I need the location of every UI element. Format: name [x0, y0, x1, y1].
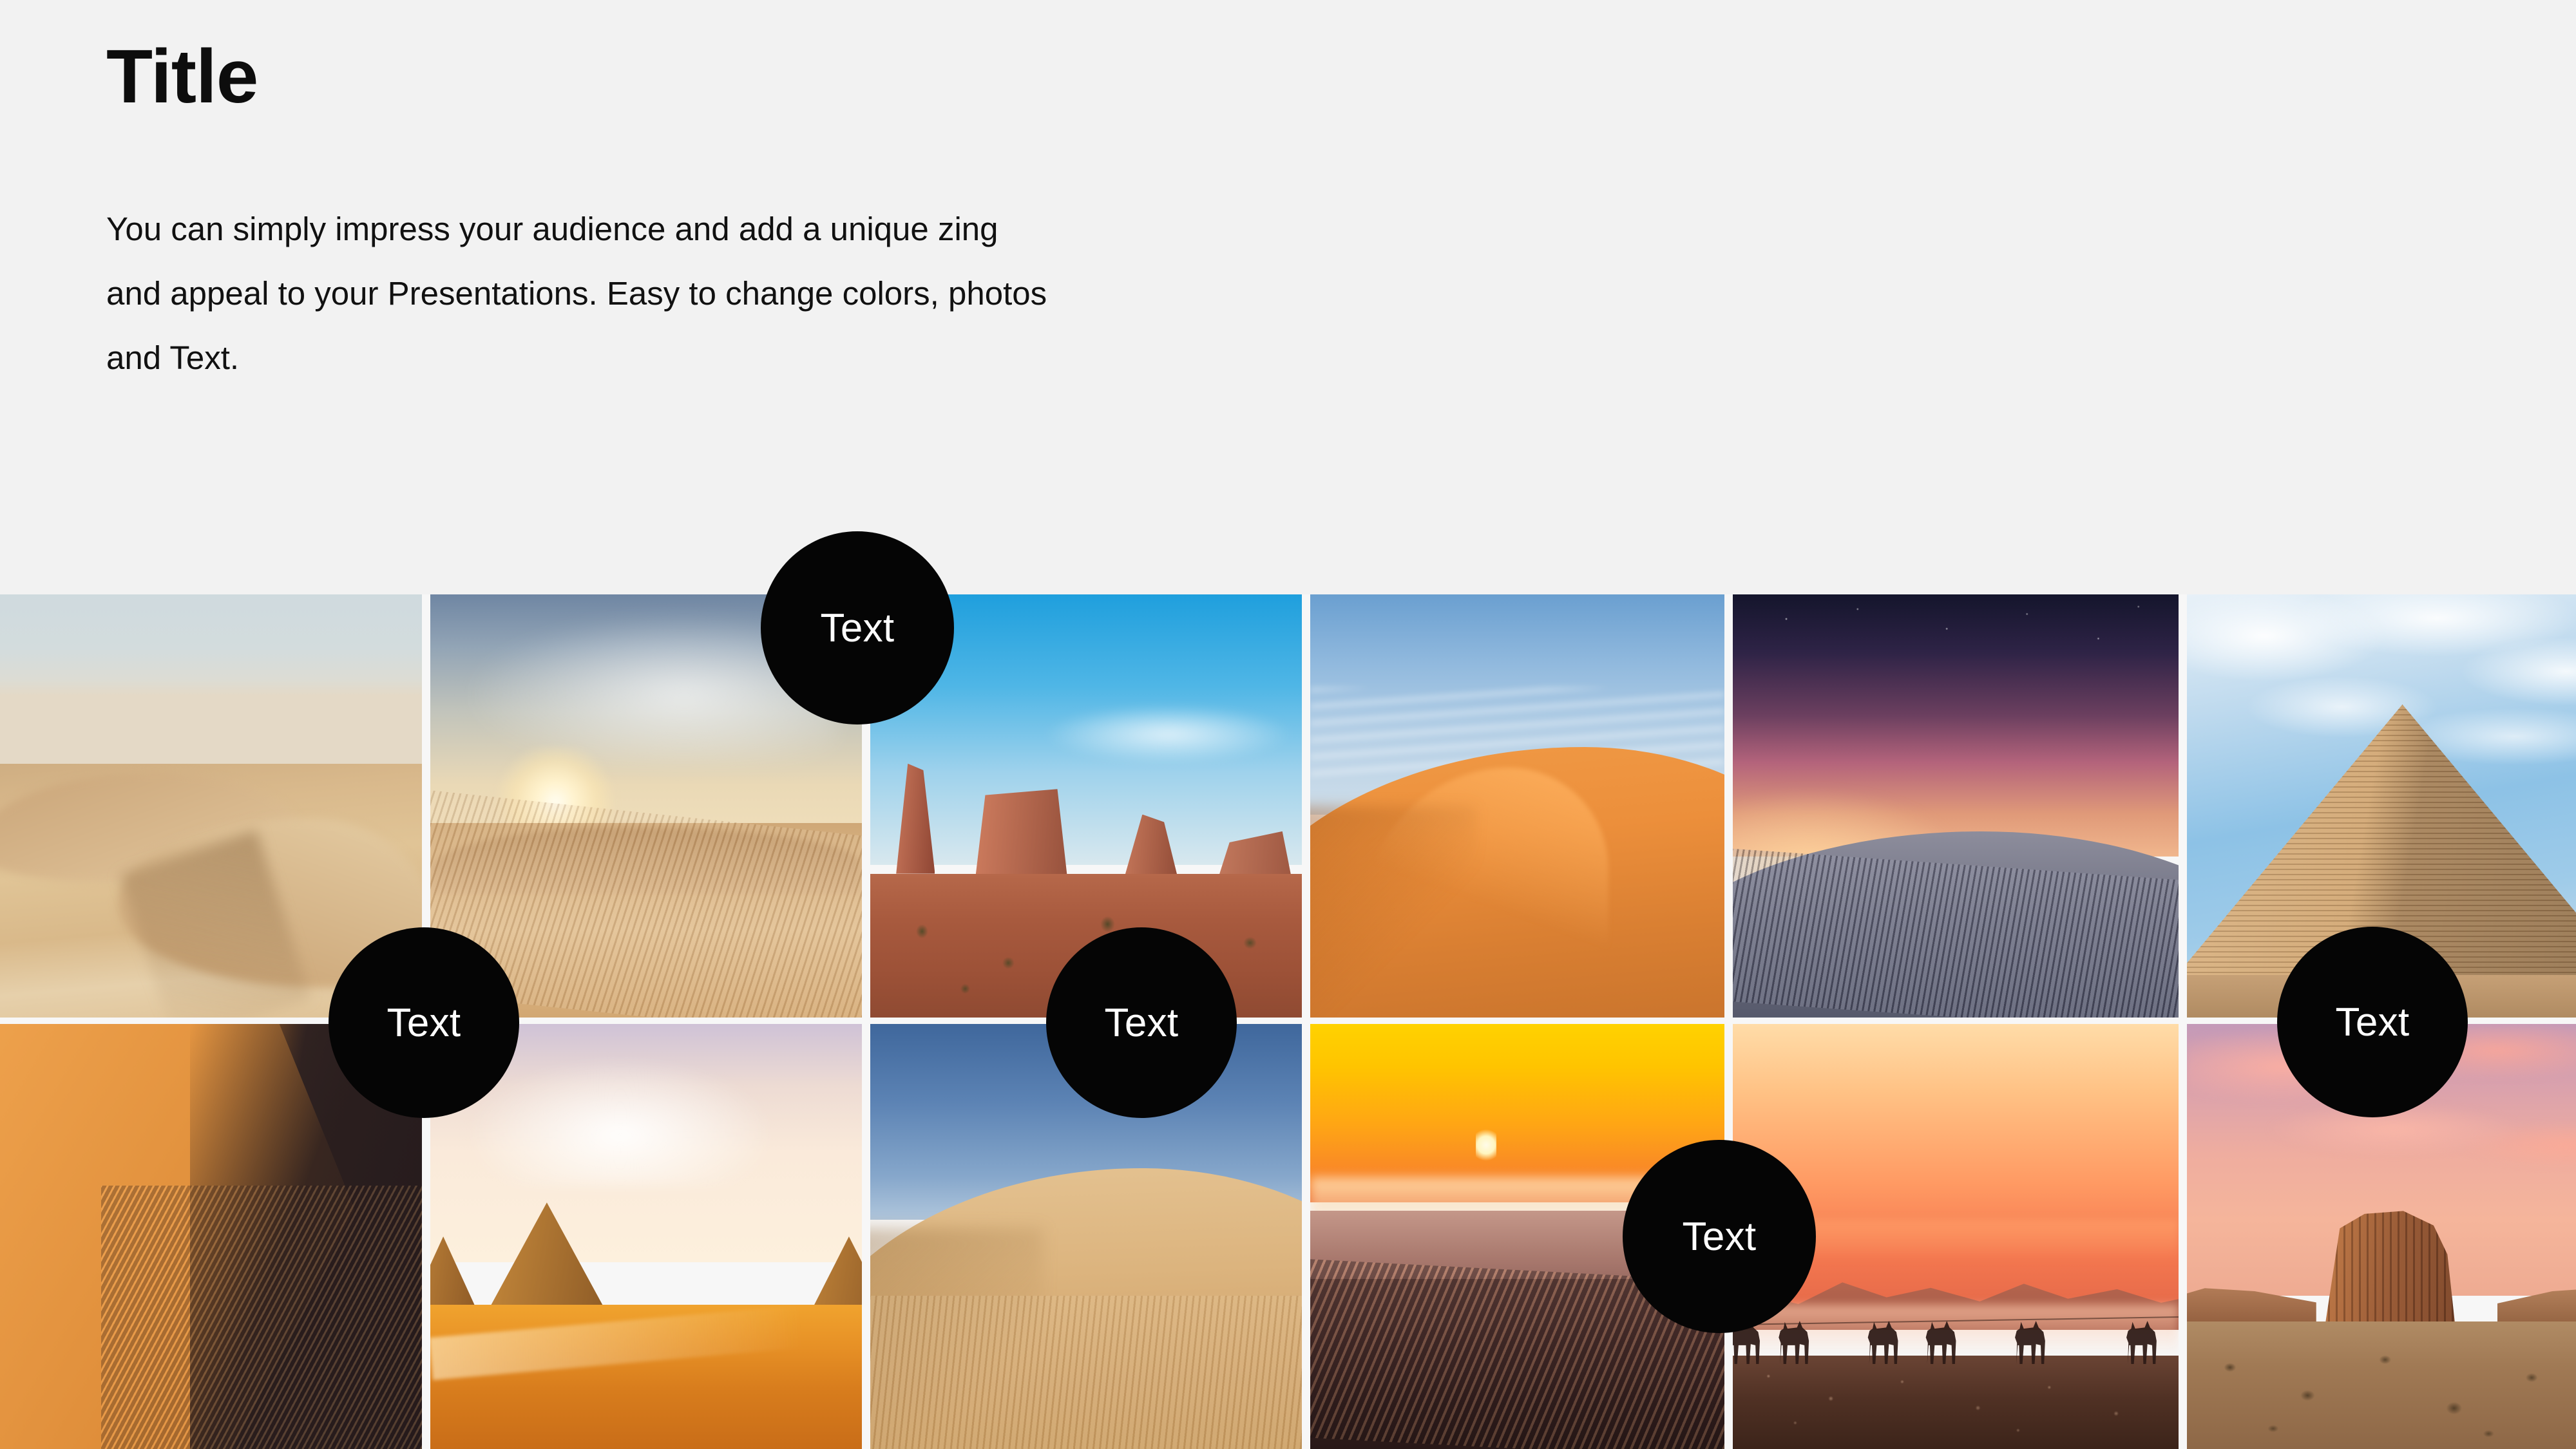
text-bubble-1[interactable]: Text: [761, 531, 954, 724]
gallery-photo-5[interactable]: [1733, 594, 2179, 1018]
photo-10-sun: [1476, 1126, 1496, 1164]
slide-canvas: Title You can simply impress your audien…: [0, 0, 2576, 1449]
page-title: Title: [106, 39, 1137, 115]
text-block: Title You can simply impress your audien…: [106, 39, 1137, 390]
photo-11-gravel: [1733, 1356, 2179, 1449]
text-bubble-2[interactable]: Text: [329, 927, 519, 1118]
photo-12-scrub: [2187, 1321, 2576, 1449]
photo-7-ripples: [101, 1186, 422, 1449]
photo-3-cloud-wisp: [1043, 705, 1293, 764]
photo-4-shadow: [1310, 806, 1476, 1018]
text-bubble-4[interactable]: Text: [2277, 927, 2468, 1117]
gallery-photo-8[interactable]: [430, 1024, 862, 1449]
photo-9-ripples: [870, 1296, 1302, 1449]
text-bubble-5[interactable]: Text: [1623, 1140, 1816, 1333]
body-paragraph: You can simply impress your audience and…: [106, 197, 1060, 390]
gallery-photo-4[interactable]: [1310, 594, 1724, 1018]
photo-8-cloud: [465, 1058, 776, 1186]
text-bubble-3[interactable]: Text: [1046, 927, 1237, 1118]
